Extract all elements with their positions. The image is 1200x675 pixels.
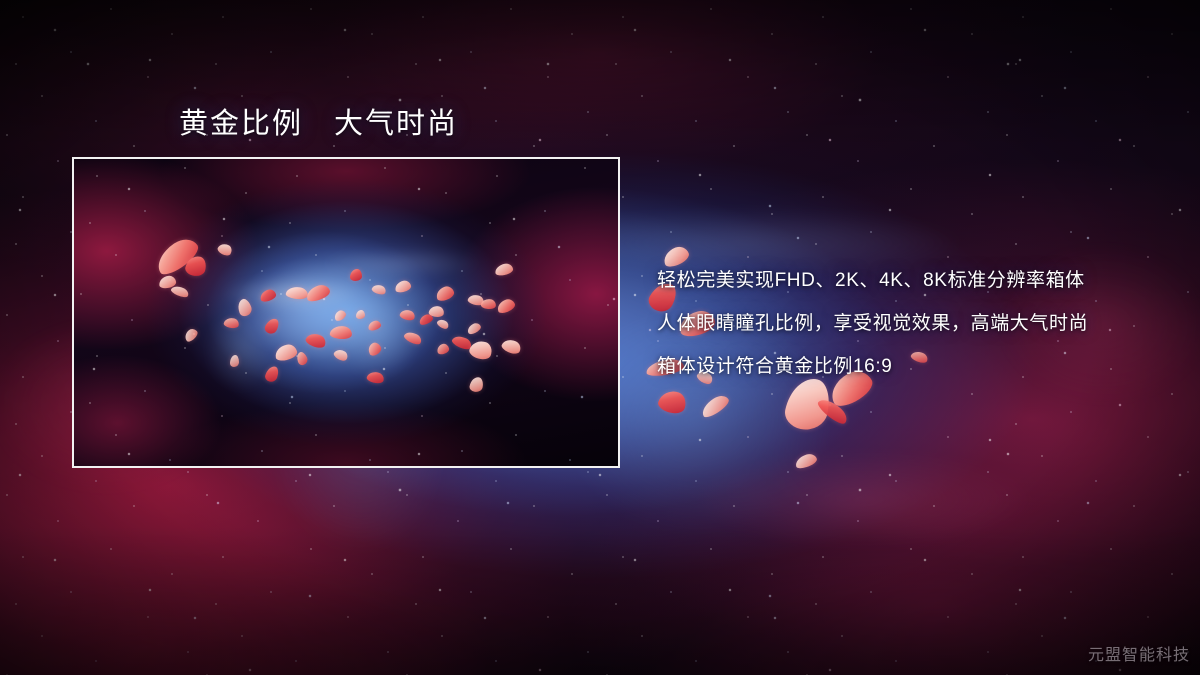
copy-line-2: 人体眼睛瞳孔比例，享受视觉效果，高端大气时尚 [657, 302, 1088, 345]
watermark: 元盟智能科技 [1088, 641, 1190, 665]
petal [656, 387, 688, 416]
petal [699, 392, 732, 420]
framed-image-panel[interactable] [72, 157, 620, 468]
presentation-slide: 黄金比例 大气时尚 轻松完美实现FHD、2K、4K、8K标准分辨率箱体 人体眼睛… [0, 0, 1200, 675]
panel-nebula-wisps [74, 159, 618, 466]
copy-line-3: 箱体设计符合黄金比例16:9 [657, 345, 1088, 388]
slide-title: 黄金比例 大气时尚 [179, 100, 458, 142]
panel-image [74, 159, 618, 466]
petal [794, 452, 819, 470]
petal [815, 395, 850, 428]
body-copy-block: 轻松完美实现FHD、2K、4K、8K标准分辨率箱体 人体眼睛瞳孔比例，享受视觉效… [657, 259, 1088, 388]
copy-line-1: 轻松完美实现FHD、2K、4K、8K标准分辨率箱体 [657, 259, 1088, 302]
